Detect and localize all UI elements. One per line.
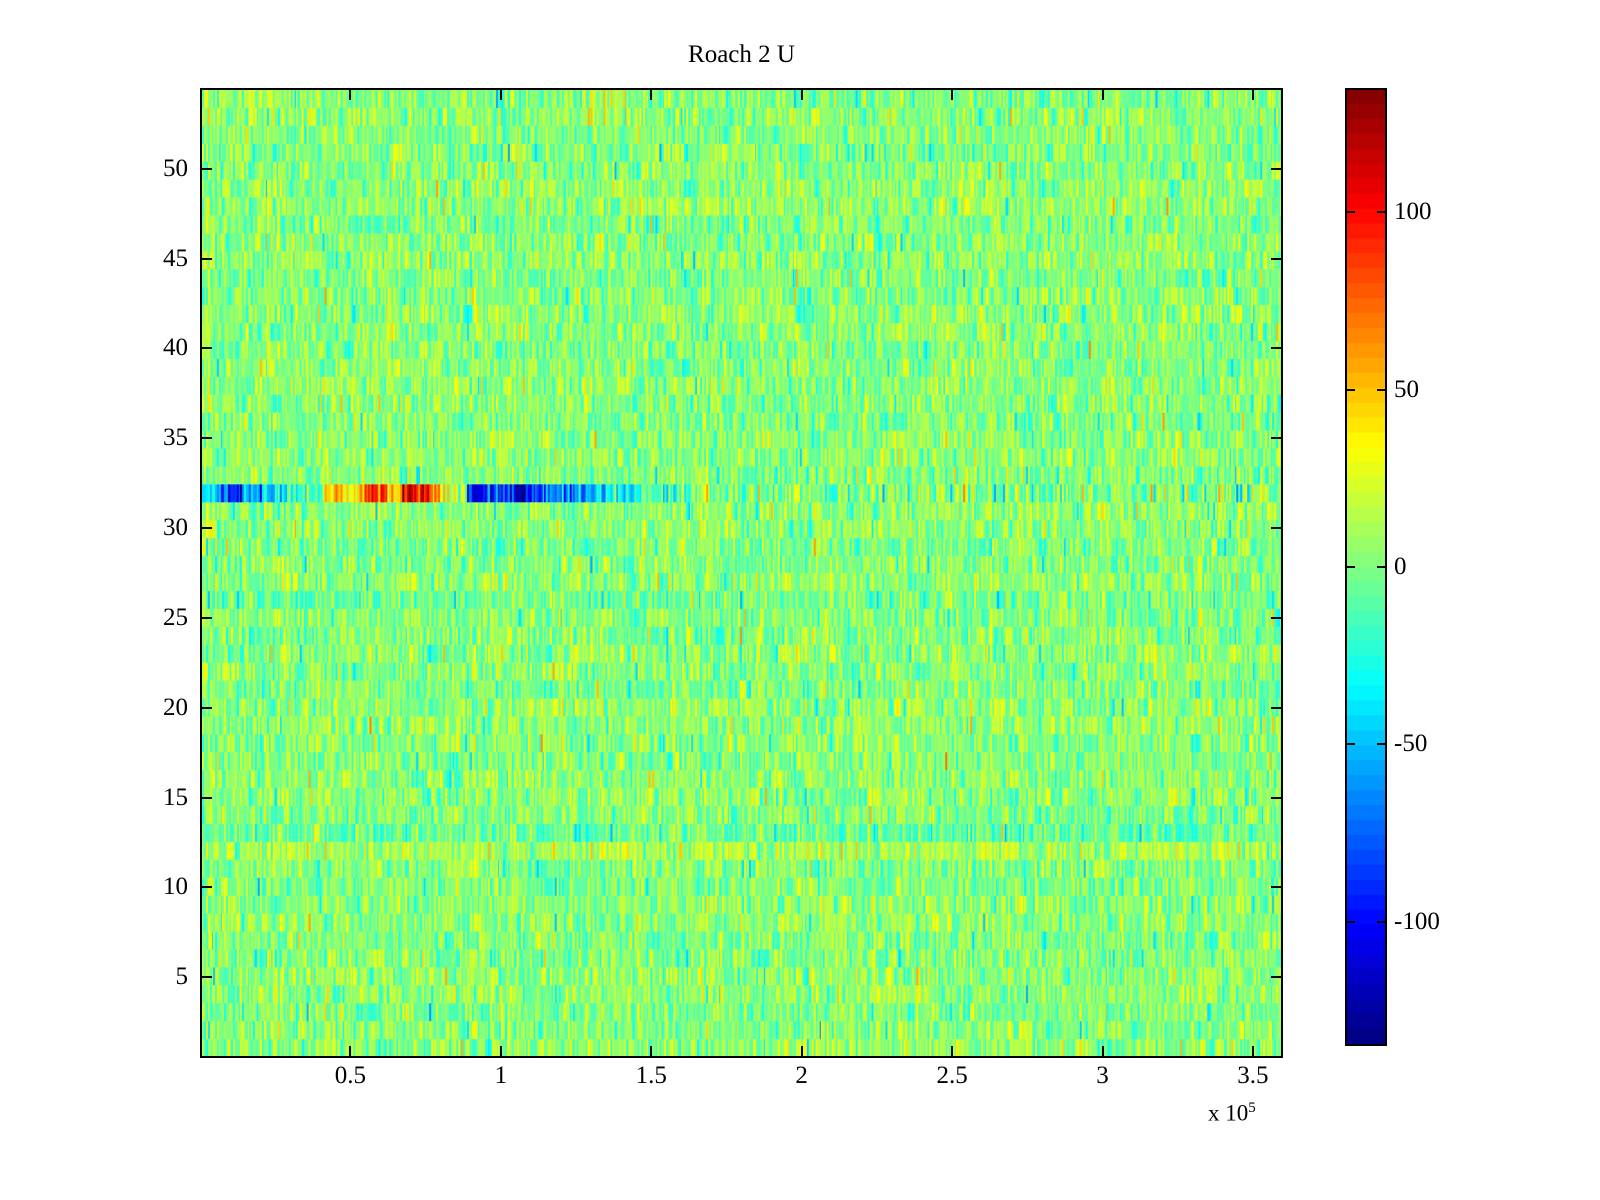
x-tick-label: 2.5 — [936, 1062, 967, 1090]
y-tick-mark — [200, 168, 212, 170]
colorbar-tick-mark — [1345, 921, 1355, 923]
y-tick-mark — [200, 617, 212, 619]
x-tick-mark-top — [801, 88, 803, 100]
y-tick-label: 20 — [163, 695, 188, 720]
y-tick-mark — [200, 437, 212, 439]
x-tick-label: 3 — [1096, 1062, 1109, 1090]
colorbar-tick-label: 0 — [1394, 554, 1407, 579]
x-tick-label: 1 — [495, 1062, 508, 1090]
x-exponent-power: 5 — [1248, 1100, 1256, 1116]
x-tick-label: 0.5 — [335, 1062, 366, 1090]
y-tick-mark-right — [1271, 168, 1283, 170]
y-tick-label: 50 — [163, 156, 188, 181]
y-tick-mark — [200, 347, 212, 349]
page-title: Roach 2 U — [200, 40, 1283, 70]
colorbar-tick-label: 100 — [1394, 199, 1432, 224]
y-tick-mark-right — [1271, 707, 1283, 709]
y-tick-mark — [200, 886, 212, 888]
x-tick-mark — [650, 1046, 652, 1058]
colorbar-tick-mark-right — [1377, 566, 1387, 568]
y-tick-label: 10 — [163, 874, 188, 899]
colorbar-tick-mark — [1345, 566, 1355, 568]
colorbar-tick-label: -50 — [1394, 731, 1427, 756]
heatmap-image — [202, 90, 1281, 1056]
colorbar-tick-mark-right — [1377, 921, 1387, 923]
x-tick-mark — [1252, 1046, 1254, 1058]
heatmap-plot-area[interactable] — [200, 88, 1283, 1058]
y-tick-label: 30 — [163, 515, 188, 540]
colorbar-tick-mark — [1345, 211, 1355, 213]
x-exponent-base: x 10 — [1208, 1101, 1248, 1126]
x-axis-exponent-label: x 105 — [1208, 1100, 1256, 1127]
x-tick-mark-top — [951, 88, 953, 100]
x-tick-mark-top — [1252, 88, 1254, 100]
y-tick-label: 35 — [163, 425, 188, 450]
colorbar-tick-label: 50 — [1394, 377, 1419, 402]
y-tick-mark-right — [1271, 527, 1283, 529]
y-tick-mark — [200, 797, 212, 799]
colorbar-tick-mark-right — [1377, 211, 1387, 213]
colorbar-tick-mark-right — [1377, 743, 1387, 745]
y-tick-mark — [200, 976, 212, 978]
y-tick-label: 40 — [163, 335, 188, 360]
x-tick-mark — [1102, 1046, 1104, 1058]
y-tick-mark — [200, 527, 212, 529]
x-tick-label: 2 — [795, 1062, 808, 1090]
x-tick-mark — [500, 1046, 502, 1058]
y-tick-mark-right — [1271, 617, 1283, 619]
y-tick-mark-right — [1271, 797, 1283, 799]
x-tick-label: 1.5 — [636, 1062, 667, 1090]
x-tick-mark-top — [500, 88, 502, 100]
y-tick-mark-right — [1271, 347, 1283, 349]
figure-canvas: Roach 2 U 5101520253035404550 0.511.522.… — [0, 0, 1600, 1200]
y-tick-label: 25 — [163, 605, 188, 630]
y-tick-mark-right — [1271, 976, 1283, 978]
y-tick-label: 15 — [163, 785, 188, 810]
colorbar-tick-mark-right — [1377, 389, 1387, 391]
y-tick-mark-right — [1271, 886, 1283, 888]
y-tick-mark-right — [1271, 258, 1283, 260]
x-tick-mark — [951, 1046, 953, 1058]
x-tick-mark — [801, 1046, 803, 1058]
y-tick-mark — [200, 258, 212, 260]
y-tick-mark — [200, 707, 212, 709]
x-tick-label: 3.5 — [1237, 1062, 1268, 1090]
x-tick-mark — [349, 1046, 351, 1058]
x-tick-mark-top — [1102, 88, 1104, 100]
y-tick-mark-right — [1271, 437, 1283, 439]
colorbar-tick-mark — [1345, 743, 1355, 745]
colorbar-tick-mark — [1345, 389, 1355, 391]
colorbar-tick-label: -100 — [1394, 909, 1440, 934]
x-tick-mark-top — [349, 88, 351, 100]
y-tick-label: 5 — [176, 964, 189, 989]
x-tick-mark-top — [650, 88, 652, 100]
y-tick-label: 45 — [163, 246, 188, 271]
